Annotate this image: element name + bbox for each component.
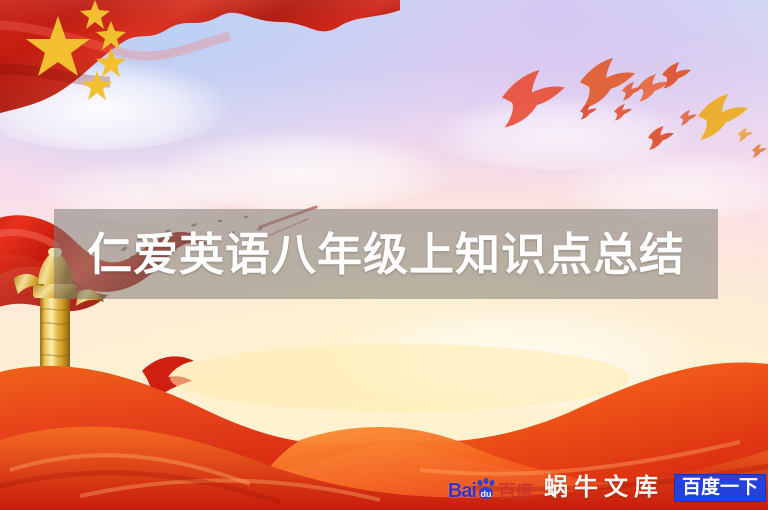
baidu-paw-icon: du (475, 478, 497, 502)
poster-canvas: 仁爱英语八年级上知识点总结 Bai du 百度 蜗牛文库 百度一下 (0, 0, 768, 510)
snail-library-watermark: 蜗牛文库 (544, 476, 664, 500)
baidu-logo[interactable]: Bai du 百度 (448, 475, 534, 501)
baidu-search-button[interactable]: 百度一下 (674, 474, 766, 502)
baidu-logo-cn: 百度 (498, 483, 534, 501)
title-banner: 仁爱英语八年级上知识点总结 (54, 209, 718, 299)
watermark-row: Bai du 百度 蜗牛文库 百度一下 (448, 472, 766, 504)
flying-birds-flock (480, 48, 768, 168)
page-title: 仁爱英语八年级上知识点总结 (87, 232, 685, 277)
baidu-logo-bai: Bai (448, 481, 476, 501)
svg-text:du: du (480, 489, 491, 499)
chinese-flag (0, 0, 400, 186)
